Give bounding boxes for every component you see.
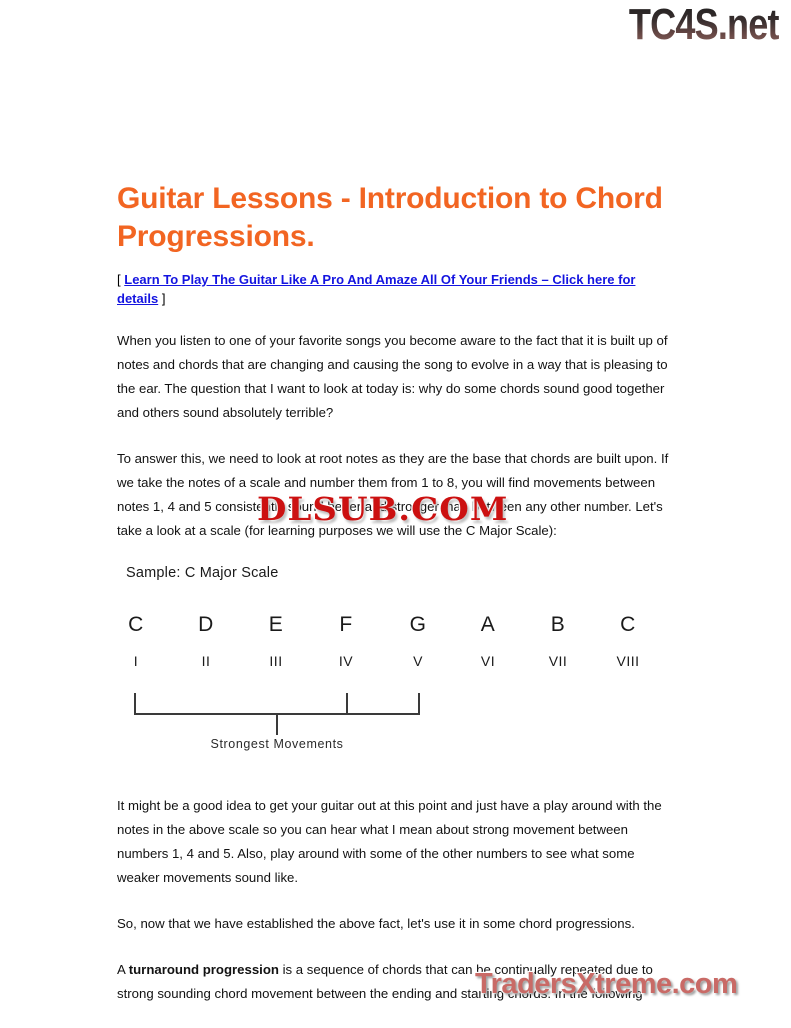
scale-note: G: [410, 613, 427, 637]
promo-link[interactable]: Learn To Play The Guitar Like A Pro And …: [117, 272, 635, 306]
strongest-movements-label: Strongest Movements: [211, 737, 344, 751]
bracket-tick-i: [134, 693, 136, 715]
scale-note: A: [481, 613, 496, 637]
paragraph-transition: So, now that we have established the abo…: [117, 912, 674, 936]
site-logo-tc4s: TC4S.net: [629, 2, 779, 48]
paragraph-intro: When you listen to one of your favorite …: [117, 329, 674, 425]
promo-link-line: [ Learn To Play The Guitar Like A Pro An…: [117, 271, 674, 309]
scale-numeral: III: [269, 653, 282, 669]
scale-numeral: VIII: [616, 653, 639, 669]
bracket-tick-center-down: [276, 713, 278, 735]
strongest-movement-bracket: [117, 681, 674, 741]
bracket-tick-iv: [346, 693, 348, 715]
scale-note: C: [620, 613, 636, 637]
scale-notes-row: C D E F G A B C: [117, 613, 674, 641]
article-content: Guitar Lessons - Introduction to Chord P…: [117, 180, 674, 1028]
scale-numeral: VII: [549, 653, 568, 669]
scale-numeral: V: [413, 653, 423, 669]
page-title: Guitar Lessons - Introduction to Chord P…: [117, 180, 674, 255]
bracket-tick-v: [418, 693, 420, 715]
turnaround-lead: A: [117, 962, 129, 977]
scale-numeral: VI: [481, 653, 495, 669]
scale-numeral: II: [202, 653, 211, 669]
paragraph-root-notes: To answer this, we need to look at root …: [117, 447, 674, 543]
scale-note: E: [269, 613, 284, 637]
c-major-scale-diagram: Sample: C Major Scale C D E F G A B C I …: [117, 565, 674, 770]
turnaround-term: turnaround progression: [129, 962, 279, 977]
scale-numerals-row: I II III IV V VI VII VIII: [117, 653, 674, 681]
scale-note: D: [198, 613, 214, 637]
scale-numeral: I: [134, 653, 138, 669]
scale-note: F: [339, 613, 352, 637]
scale-note: C: [128, 613, 144, 637]
scale-numeral: IV: [339, 653, 353, 669]
scale-note: B: [551, 613, 566, 637]
scale-caption: Sample: C Major Scale: [126, 565, 278, 581]
promo-close-bracket: ]: [162, 291, 166, 306]
footer-logo-tradersxtreme: TradersXtreme.com: [475, 968, 737, 1001]
promo-open-bracket: [: [117, 272, 121, 287]
paragraph-practice: It might be a good idea to get your guit…: [117, 794, 674, 890]
